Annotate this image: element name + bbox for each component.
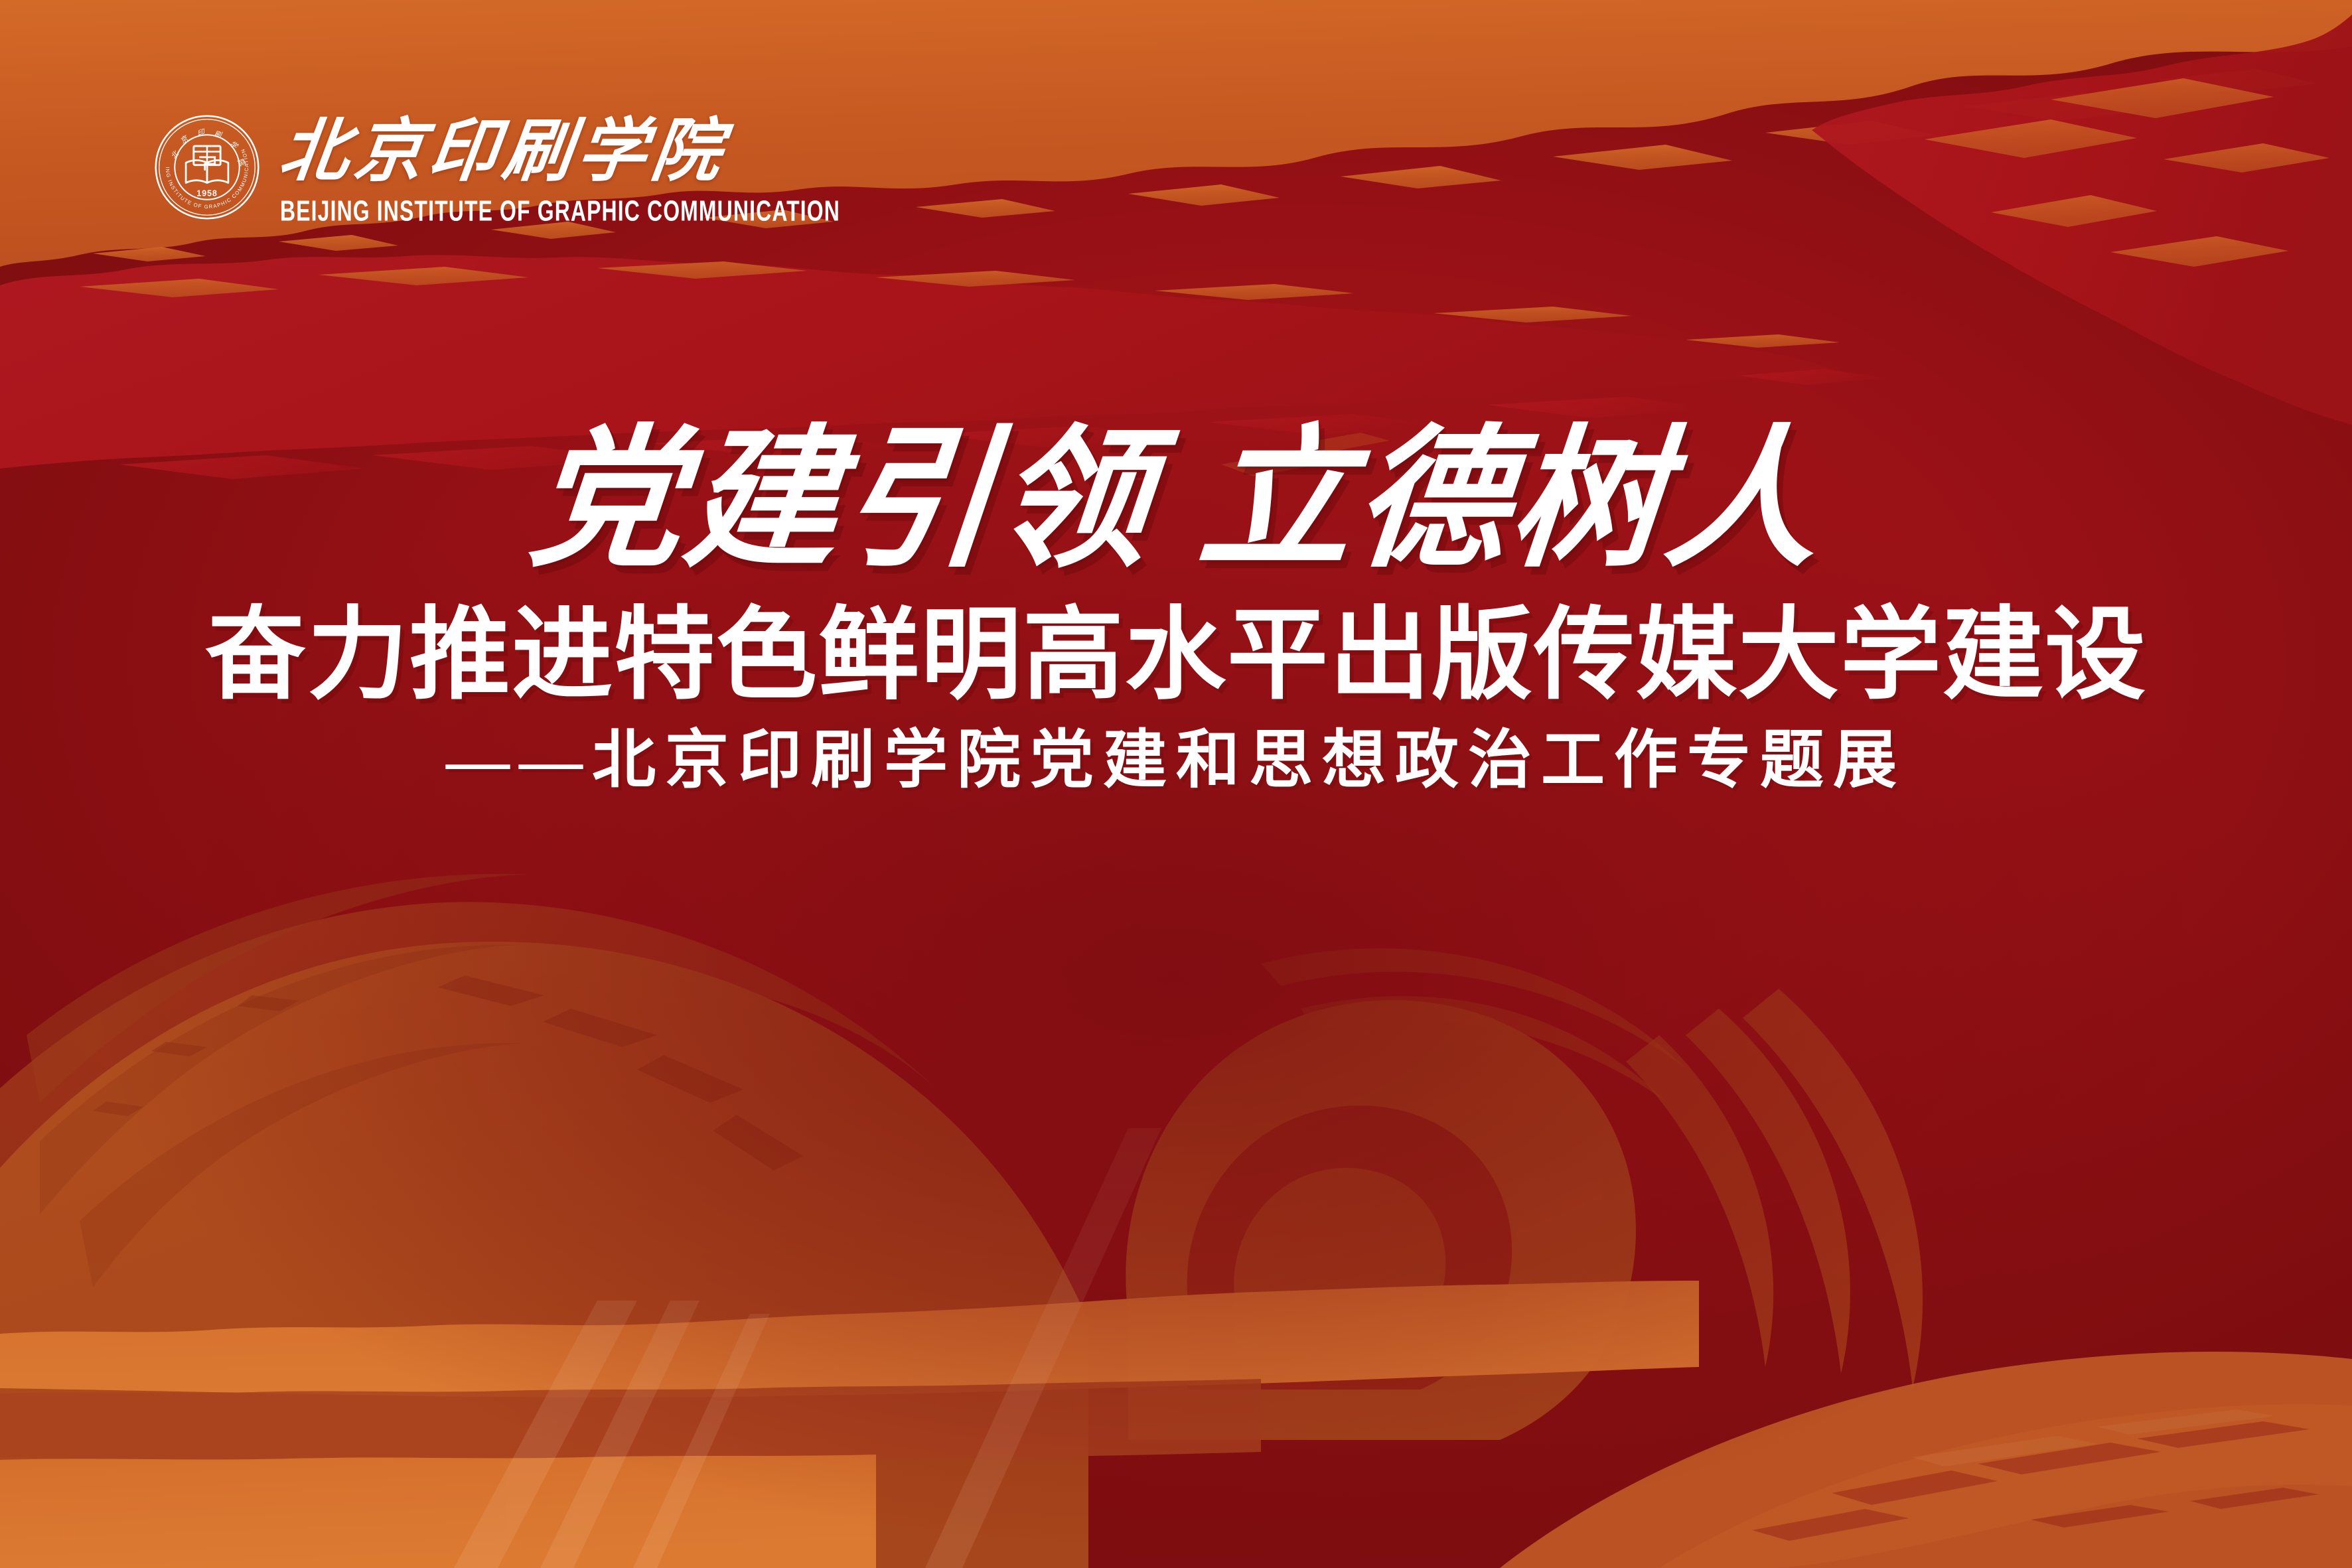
title-block: 党建引领立德树人 奋力推进特色鲜明高水平出版传媒大学建设 ——北京印刷学院党建和… bbox=[0, 425, 2352, 792]
svg-text:京: 京 bbox=[179, 133, 190, 145]
headline-part-1: 党建引领 bbox=[523, 416, 1159, 585]
wordmark-chinese: 北京印刷学院 bbox=[275, 117, 880, 187]
poster-canvas: BEIJING INSTITUTE OF GRAPHIC COMMUNICATI… bbox=[0, 0, 2352, 1568]
brand-header: BEIJING INSTITUTE OF GRAPHIC COMMUNICATI… bbox=[151, 111, 876, 223]
subtitle-line: 奋力推进特色鲜明高水平出版传媒大学建设 bbox=[0, 605, 2352, 706]
svg-text:印: 印 bbox=[196, 128, 207, 138]
headline-part-2: 立德树人 bbox=[1193, 416, 1829, 585]
university-emblem-icon: BEIJING INSTITUTE OF GRAPHIC COMMUNICATI… bbox=[151, 111, 263, 223]
headline-calligraphy: 党建引领立德树人 bbox=[0, 425, 2352, 577]
exhibition-caption: ——北京印刷学院党建和思想政治工作专题展 bbox=[0, 729, 2352, 792]
wordmark: 北京印刷学院 BEIJING INSTITUTE OF GRAPHIC COMM… bbox=[280, 111, 876, 221]
svg-text:学: 学 bbox=[228, 139, 240, 151]
wordmark-english: BEIJING INSTITUTE OF GRAPHIC COMMUNICATI… bbox=[280, 195, 840, 228]
svg-text:1958: 1958 bbox=[196, 189, 217, 198]
